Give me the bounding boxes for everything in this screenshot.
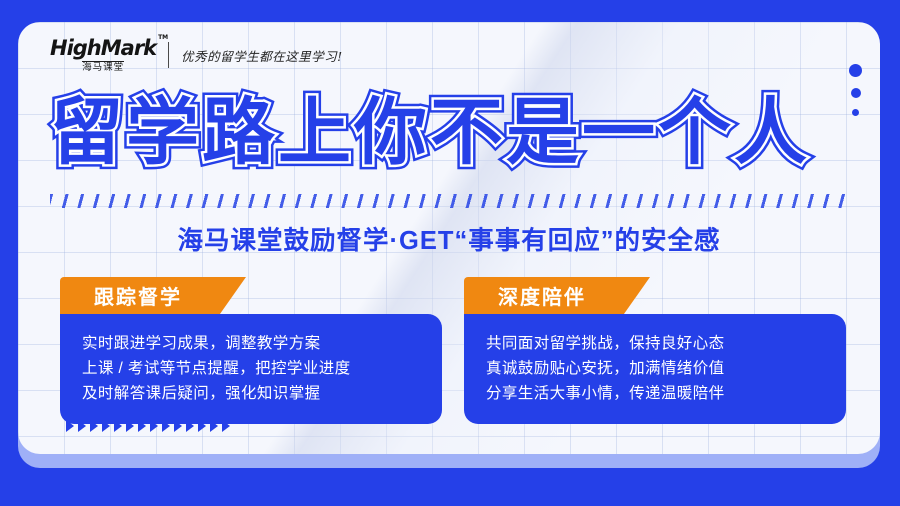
triangle-right-icon [162, 420, 170, 432]
triangle-right-icon [126, 420, 134, 432]
triangle-right-icon [174, 420, 182, 432]
logo-wordmark-text: HighMark [50, 36, 156, 60]
feature-card-header: 深度陪伴 [464, 277, 650, 314]
triangle-right-icon [222, 420, 230, 432]
trademark-icon: TM [158, 35, 168, 41]
subtitle: 海马课堂鼓励督学·GET“事事有回应”的安全感 [178, 220, 721, 257]
feature-card-line: 上课 / 考试等节点提醒，把控学业进度 [82, 356, 420, 381]
triangle-right-icon [198, 420, 206, 432]
feature-card: 深度陪伴 共同面对留学挑战，保持良好心态 真诚鼓励贴心安抚，加满情绪价值 分享生… [464, 277, 846, 424]
triangle-right-icon [78, 420, 86, 432]
triangle-right-icon [138, 420, 146, 432]
triangle-right-icon [186, 420, 194, 432]
feature-card-line: 实时跟进学习成果，调整教学方案 [82, 331, 420, 356]
headline: 留学路上你不是一个人 留学路上你不是一个人 留学路上你不是一个人 [50, 96, 810, 169]
feature-card-line: 共同面对留学挑战，保持良好心态 [486, 331, 824, 356]
triangle-right-icon [150, 420, 158, 432]
feature-card-body: 实时跟进学习成果，调整教学方案 上课 / 考试等节点提醒，把控学业进度 及时解答… [60, 314, 442, 424]
feature-card-title: 深度陪伴 [498, 281, 586, 310]
headline-text: 留学路上你不是一个人 [50, 96, 810, 169]
feature-card-line: 分享生活大事小情，传递温暖陪伴 [486, 381, 824, 406]
decor-arrow-strip [66, 420, 230, 432]
feature-card-title: 跟踪督学 [94, 281, 182, 310]
logo-wordmark: HighMark TM [50, 38, 156, 59]
circle-dot-icon [851, 88, 861, 98]
triangle-right-icon [66, 420, 74, 432]
brand-tagline: 优秀的留学生都在这里学习! [181, 46, 343, 65]
circle-dot-icon [849, 64, 862, 77]
feature-card-line: 真诚鼓励贴心安抚，加满情绪价值 [486, 356, 824, 381]
triangle-right-icon [90, 420, 98, 432]
dash-divider [50, 194, 850, 208]
decor-dots [849, 64, 862, 116]
content-panel: HighMark TM 海马课堂 优秀的留学生都在这里学习! 留学路上你不是一个… [18, 22, 880, 454]
logo-subtitle: 海马课堂 [82, 61, 124, 73]
brand-header: HighMark TM 海马课堂 优秀的留学生都在这里学习! [50, 38, 343, 73]
triangle-right-icon [114, 420, 122, 432]
feature-card-line: 及时解答课后疑问，强化知识掌握 [82, 381, 420, 406]
logo-divider [168, 42, 169, 68]
circle-dot-icon [852, 109, 859, 116]
feature-card: 跟踪督学 实时跟进学习成果，调整教学方案 上课 / 考试等节点提醒，把控学业进度… [60, 277, 442, 424]
triangle-right-icon [210, 420, 218, 432]
triangle-right-icon [102, 420, 110, 432]
poster-root: HighMark TM 海马课堂 优秀的留学生都在这里学习! 留学路上你不是一个… [0, 0, 900, 506]
feature-card-body: 共同面对留学挑战，保持良好心态 真诚鼓励贴心安抚，加满情绪价值 分享生活大事小情… [464, 314, 846, 424]
feature-cards: 跟踪督学 实时跟进学习成果，调整教学方案 上课 / 考试等节点提醒，把控学业进度… [60, 277, 846, 424]
feature-card-header: 跟踪督学 [60, 277, 246, 314]
logo: HighMark TM 海马课堂 [50, 38, 156, 73]
